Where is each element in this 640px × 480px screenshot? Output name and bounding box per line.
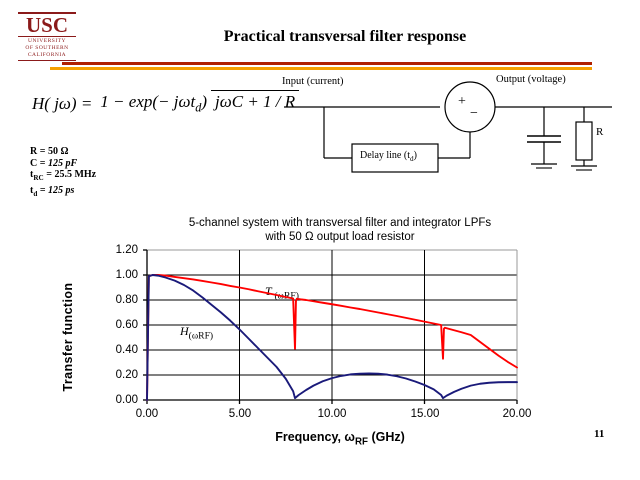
resistor-body	[576, 122, 592, 160]
circuit-diagram: Input (current) Output (voltage) Delay l…	[282, 74, 640, 184]
equation-fraction: 1 − exp(− jωtd)jωC + 1 / R	[96, 92, 299, 115]
page-title: Practical transversal filter response	[110, 28, 580, 46]
input-label: Input (current)	[282, 76, 344, 87]
header-rule-gold	[50, 67, 592, 70]
equation-lhs: H( jω) =	[32, 94, 92, 114]
resistor-label: R	[596, 126, 603, 138]
delay-line-label: Delay line (td)	[360, 150, 417, 163]
header-rule-maroon	[62, 62, 592, 65]
param-value: 125 ps	[48, 185, 74, 196]
summer-minus-sign: −	[470, 106, 478, 122]
param-equals: =	[40, 158, 46, 169]
page-number: 11	[594, 428, 604, 440]
summer-plus-sign: +	[458, 94, 466, 110]
logo-line-of-southern: OF SOUTHERN	[18, 45, 76, 52]
param-subscript: RC	[33, 174, 43, 182]
param-name: C	[30, 158, 37, 169]
transfer-function-equation: H( jω) =1 − exp(− jωtd)jωC + 1 / R	[32, 92, 299, 115]
circuit-svg	[282, 74, 640, 184]
param-value: 125 pF	[48, 158, 77, 169]
delay-line-label-tail: )	[414, 150, 417, 161]
usc-logo: USC UNIVERSITY OF SOUTHERN CALIFORNIA	[18, 12, 76, 61]
param-value: 50 Ω	[48, 146, 69, 157]
output-label: Output (voltage)	[496, 74, 566, 85]
delay-line-label-text: Delay line (t	[360, 150, 410, 161]
parameter-row-trc: tRC = 25.5 MHz	[30, 169, 96, 185]
param-name: R	[30, 146, 37, 157]
param-equals: =	[46, 169, 52, 180]
param-subscript: d	[33, 190, 37, 198]
parameter-row-c: C = 125 pF	[30, 158, 96, 170]
equation-numerator-tail: )	[201, 92, 207, 111]
chart-plot-area	[0, 212, 640, 467]
logo-wordmark: USC	[18, 15, 76, 35]
param-equals: =	[40, 185, 46, 196]
parameter-row-td: td = 125 ps	[30, 185, 96, 201]
param-value: 25.5 MHz	[54, 169, 96, 180]
chart-axes	[143, 250, 517, 404]
parameter-row-r: R = 50 Ω	[30, 146, 96, 158]
logo-line-california: CALIFORNIA	[18, 52, 76, 59]
equation-numerator: 1 − exp(− jωtd)	[96, 92, 211, 112]
equation-numerator-text: 1 − exp(− jωt	[100, 92, 195, 111]
param-equals: =	[40, 146, 46, 157]
transfer-function-chart: 5-channel system with transversal filter…	[0, 212, 640, 467]
logo-rule-bottom	[18, 60, 76, 61]
logo-line-university: UNIVERSITY	[18, 38, 76, 45]
parameter-list: R = 50 Ω C = 125 pF tRC = 25.5 MHz td = …	[30, 146, 96, 200]
